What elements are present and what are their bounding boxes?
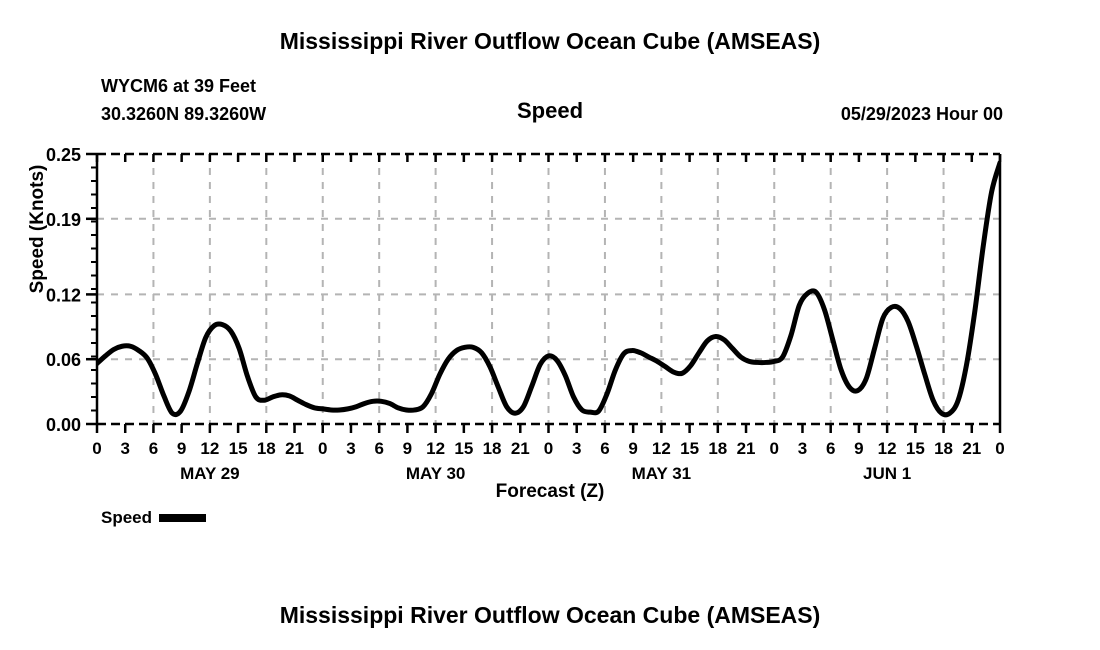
legend: Speed <box>101 508 206 528</box>
y-axis-tick-labels: 0.000.060.120.190.25 <box>46 145 81 435</box>
svg-text:MAY 29: MAY 29 <box>180 464 240 483</box>
svg-text:3: 3 <box>120 439 129 458</box>
chart-page: Mississippi River Outflow Ocean Cube (AM… <box>0 0 1100 650</box>
svg-text:12: 12 <box>652 439 671 458</box>
svg-text:18: 18 <box>483 439 502 458</box>
svg-text:21: 21 <box>962 439 981 458</box>
svg-text:15: 15 <box>229 439 248 458</box>
plot-area: 0.000.060.120.190.25 0369121518210369121… <box>0 0 1100 650</box>
svg-text:3: 3 <box>346 439 355 458</box>
svg-text:15: 15 <box>906 439 925 458</box>
svg-text:6: 6 <box>600 439 609 458</box>
svg-text:6: 6 <box>149 439 158 458</box>
svg-text:9: 9 <box>403 439 412 458</box>
y-axis-ticks <box>86 154 97 424</box>
x-axis-tick-labels: 0369121518210369121518210369121518210369… <box>92 439 1004 458</box>
svg-text:18: 18 <box>257 439 276 458</box>
svg-text:0: 0 <box>318 439 327 458</box>
svg-text:0.19: 0.19 <box>46 210 81 230</box>
svg-text:0: 0 <box>544 439 553 458</box>
svg-text:0.12: 0.12 <box>46 285 81 305</box>
svg-text:0: 0 <box>770 439 779 458</box>
svg-text:JUN 1: JUN 1 <box>863 464 911 483</box>
chart-svg: 0.000.060.120.190.25 0369121518210369121… <box>0 0 1100 650</box>
x-axis-day-labels: MAY 29MAY 30MAY 31JUN 1 <box>180 464 911 483</box>
svg-text:3: 3 <box>798 439 807 458</box>
svg-text:3: 3 <box>572 439 581 458</box>
page-title-bottom: Mississippi River Outflow Ocean Cube (AM… <box>0 602 1100 629</box>
svg-text:12: 12 <box>878 439 897 458</box>
svg-text:0: 0 <box>995 439 1004 458</box>
legend-label-speed: Speed <box>101 508 152 528</box>
svg-text:0.06: 0.06 <box>46 350 81 370</box>
svg-text:18: 18 <box>934 439 953 458</box>
svg-text:15: 15 <box>680 439 699 458</box>
svg-text:9: 9 <box>628 439 637 458</box>
svg-text:0: 0 <box>92 439 101 458</box>
svg-text:6: 6 <box>374 439 383 458</box>
svg-text:15: 15 <box>454 439 473 458</box>
svg-text:MAY 30: MAY 30 <box>406 464 466 483</box>
legend-swatch-speed <box>159 514 206 522</box>
svg-text:0.00: 0.00 <box>46 415 81 435</box>
svg-text:6: 6 <box>826 439 835 458</box>
svg-text:12: 12 <box>426 439 445 458</box>
svg-text:21: 21 <box>737 439 756 458</box>
svg-text:18: 18 <box>708 439 727 458</box>
svg-text:21: 21 <box>285 439 304 458</box>
svg-text:9: 9 <box>177 439 186 458</box>
svg-text:21: 21 <box>511 439 530 458</box>
svg-text:12: 12 <box>200 439 219 458</box>
svg-text:9: 9 <box>854 439 863 458</box>
svg-text:MAY 31: MAY 31 <box>632 464 692 483</box>
svg-text:0.25: 0.25 <box>46 145 81 165</box>
